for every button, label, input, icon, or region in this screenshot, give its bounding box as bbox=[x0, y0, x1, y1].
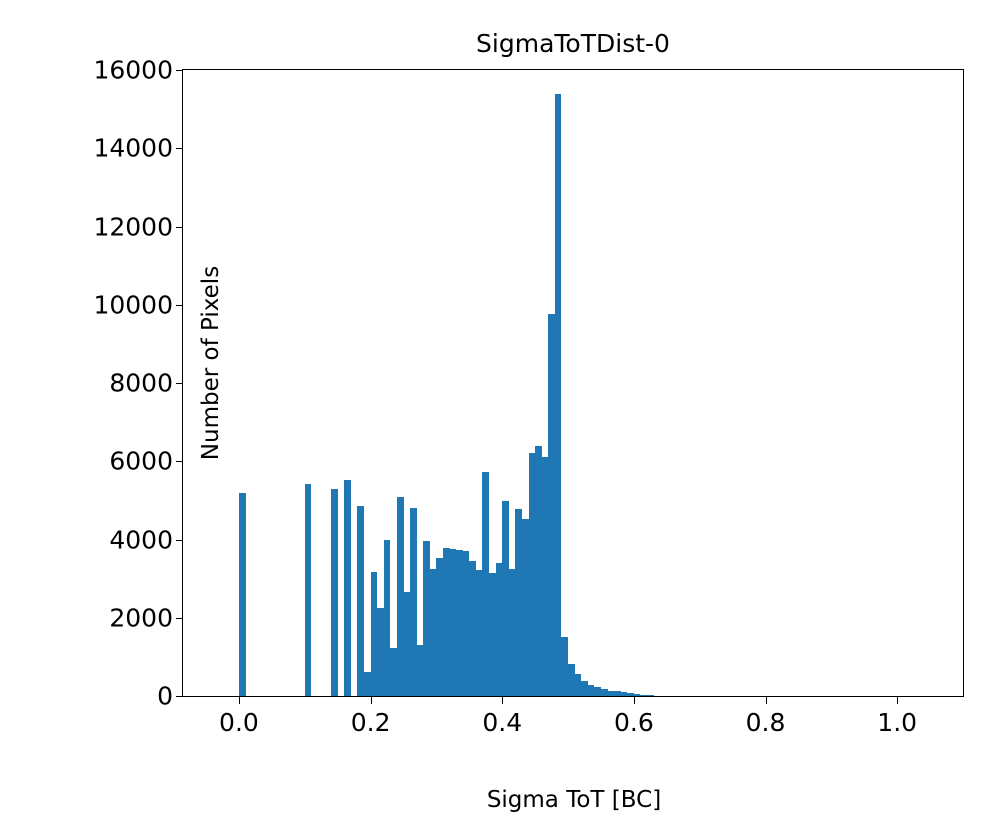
x-tick-mark bbox=[502, 696, 503, 704]
histogram-bar bbox=[614, 691, 621, 696]
histogram-bar bbox=[542, 457, 549, 696]
histogram-bar bbox=[430, 569, 437, 696]
y-tick-mark bbox=[176, 540, 184, 541]
histogram-bar bbox=[575, 674, 582, 696]
histogram-bar bbox=[364, 672, 371, 696]
histogram-bar bbox=[548, 314, 555, 696]
histogram-bar bbox=[357, 506, 364, 696]
x-tick-mark bbox=[371, 696, 372, 704]
histogram-bar bbox=[239, 493, 246, 696]
histogram-bar bbox=[423, 541, 430, 696]
histogram-bar bbox=[509, 569, 516, 696]
histogram-bar bbox=[344, 480, 351, 696]
x-tick-label: 0.0 bbox=[219, 708, 259, 737]
y-tick-mark bbox=[176, 461, 184, 462]
histogram-bar bbox=[482, 472, 489, 696]
y-tick-label: 4000 bbox=[109, 525, 173, 554]
y-tick-label: 8000 bbox=[109, 369, 173, 398]
histogram-bar bbox=[371, 572, 378, 696]
histogram-bar bbox=[581, 681, 588, 696]
x-tick-label: 0.2 bbox=[351, 708, 391, 737]
y-tick-mark bbox=[176, 227, 184, 228]
histogram-bar bbox=[621, 692, 628, 696]
histogram-bar bbox=[502, 501, 509, 696]
histogram-bar bbox=[436, 558, 443, 696]
histogram-bar bbox=[463, 551, 470, 696]
histogram-bar bbox=[561, 637, 568, 696]
x-tick-mark bbox=[766, 696, 767, 704]
histogram-bar bbox=[469, 561, 476, 696]
y-tick-label: 0 bbox=[157, 682, 173, 711]
histogram-bar bbox=[456, 550, 463, 696]
histogram-bar bbox=[404, 592, 411, 696]
x-tick-mark bbox=[634, 696, 635, 704]
histogram-bar bbox=[608, 691, 615, 696]
y-tick-label: 14000 bbox=[93, 134, 173, 163]
histogram-bar bbox=[522, 519, 529, 696]
histogram-bar bbox=[515, 509, 522, 696]
page-title: SigmaToTDist-0 bbox=[182, 30, 964, 58]
x-tick-label: 0.8 bbox=[746, 708, 786, 737]
y-tick-mark bbox=[176, 696, 184, 697]
histogram-bar bbox=[588, 685, 595, 696]
histogram-bar bbox=[647, 695, 654, 696]
x-tick-mark bbox=[239, 696, 240, 704]
histogram-bar bbox=[443, 548, 450, 696]
plot-area: 0200040006000800010000120001400016000 0.… bbox=[182, 69, 964, 697]
x-tick-label: 0.6 bbox=[614, 708, 654, 737]
matplotlib-figure: SigmaToTDist-0 0200040006000800010000120… bbox=[0, 0, 1000, 800]
histogram-bar bbox=[535, 446, 542, 696]
y-tick-mark bbox=[176, 618, 184, 619]
histogram-bar bbox=[489, 573, 496, 696]
histogram-bar bbox=[568, 664, 575, 696]
histogram-bar bbox=[384, 540, 391, 697]
histogram-bar bbox=[555, 94, 562, 696]
histogram-bar bbox=[627, 693, 634, 696]
histogram-bar bbox=[397, 497, 404, 696]
y-tick-label: 12000 bbox=[93, 212, 173, 241]
x-tick-label: 0.4 bbox=[482, 708, 522, 737]
x-tick-label: 1.0 bbox=[877, 708, 917, 737]
y-tick-mark bbox=[176, 148, 184, 149]
histogram-bar bbox=[529, 453, 536, 696]
histogram-bar bbox=[601, 689, 608, 696]
x-axis-label: Sigma ToT [BC] bbox=[183, 787, 965, 813]
histogram-bar bbox=[305, 484, 312, 696]
histogram-bar bbox=[410, 508, 417, 696]
y-tick-mark bbox=[176, 383, 184, 384]
histogram-bar bbox=[496, 563, 503, 696]
y-tick-label: 2000 bbox=[109, 603, 173, 632]
y-axis-label: Number of Pixels bbox=[198, 113, 224, 613]
y-tick-mark bbox=[176, 305, 184, 306]
histogram-bar bbox=[377, 608, 384, 696]
histogram-bar bbox=[390, 648, 397, 696]
histogram-bars bbox=[183, 70, 963, 696]
histogram-bar bbox=[640, 695, 647, 696]
y-tick-label: 10000 bbox=[93, 290, 173, 319]
x-tick-mark bbox=[897, 696, 898, 704]
y-tick-label: 16000 bbox=[93, 56, 173, 85]
y-tick-label: 6000 bbox=[109, 447, 173, 476]
y-tick-mark bbox=[176, 70, 184, 71]
histogram-bar bbox=[476, 570, 483, 696]
histogram-bar bbox=[417, 645, 424, 696]
histogram-bar bbox=[450, 549, 457, 697]
histogram-bar bbox=[594, 687, 601, 696]
histogram-bar bbox=[331, 489, 338, 696]
